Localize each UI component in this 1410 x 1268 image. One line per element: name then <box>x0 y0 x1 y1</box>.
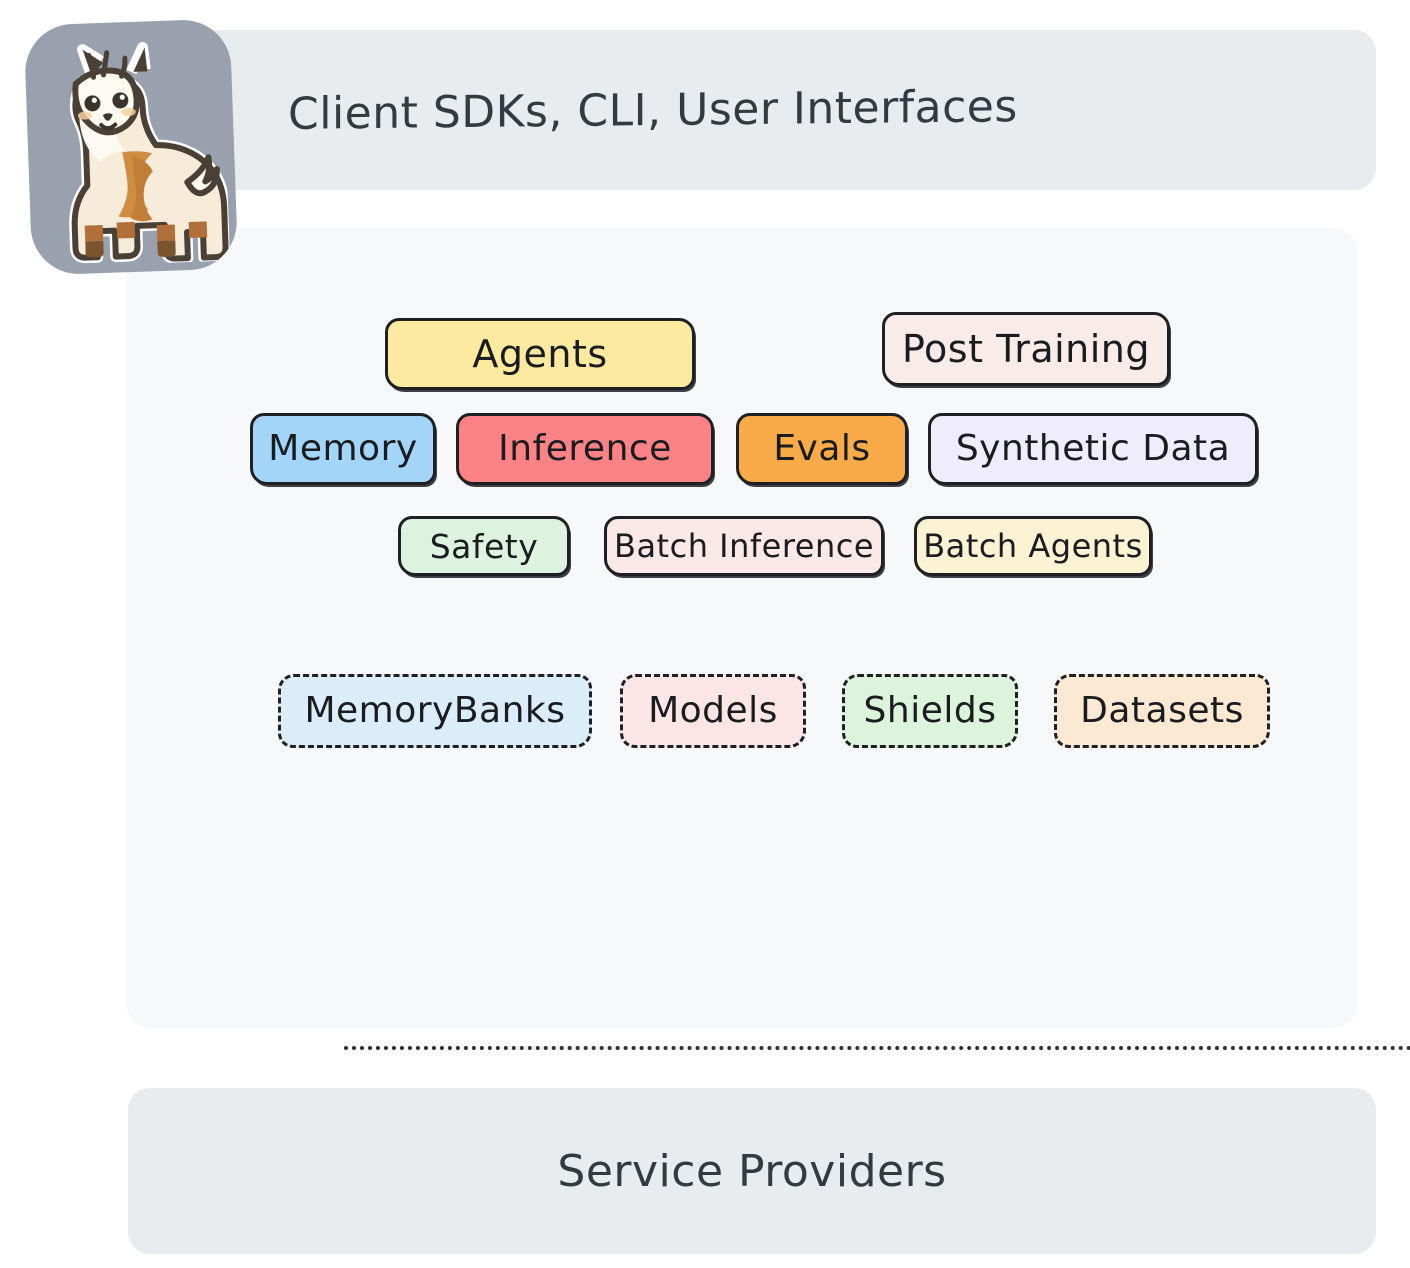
service-providers-footer-bar: Service Providers <box>128 1088 1376 1254</box>
api-box-batch-inference[interactable]: Batch Inference <box>604 516 884 576</box>
api-box-synthetic-data[interactable]: Synthetic Data <box>928 413 1258 485</box>
api-box-datasets[interactable]: Datasets <box>1054 674 1270 748</box>
llama-icon <box>32 31 230 267</box>
api-box-models[interactable]: Models <box>620 674 806 748</box>
api-box-evals[interactable]: Evals <box>736 413 908 485</box>
client-interfaces-header-bar: Client SDKs, CLI, User Interfaces <box>128 30 1376 190</box>
api-box-inference[interactable]: Inference <box>456 413 714 485</box>
api-box-memory[interactable]: Memory <box>250 413 436 485</box>
api-box-safety[interactable]: Safety <box>398 516 570 576</box>
api-box-batch-agents[interactable]: Batch Agents <box>914 516 1152 576</box>
api-box-post-training[interactable]: Post Training <box>882 312 1170 386</box>
footer-title: Service Providers <box>557 1146 946 1197</box>
dotted-separator <box>344 1046 1410 1050</box>
api-box-agents[interactable]: Agents <box>385 318 695 390</box>
api-box-shields[interactable]: Shields <box>842 674 1018 748</box>
llama-logo-badge <box>24 18 239 275</box>
api-panel: AgentsPost TrainingMemoryInferenceEvalsS… <box>126 228 1358 1028</box>
header-title: Client SDKs, CLI, User Interfaces <box>288 81 1018 140</box>
api-box-memorybanks[interactable]: MemoryBanks <box>278 674 592 748</box>
